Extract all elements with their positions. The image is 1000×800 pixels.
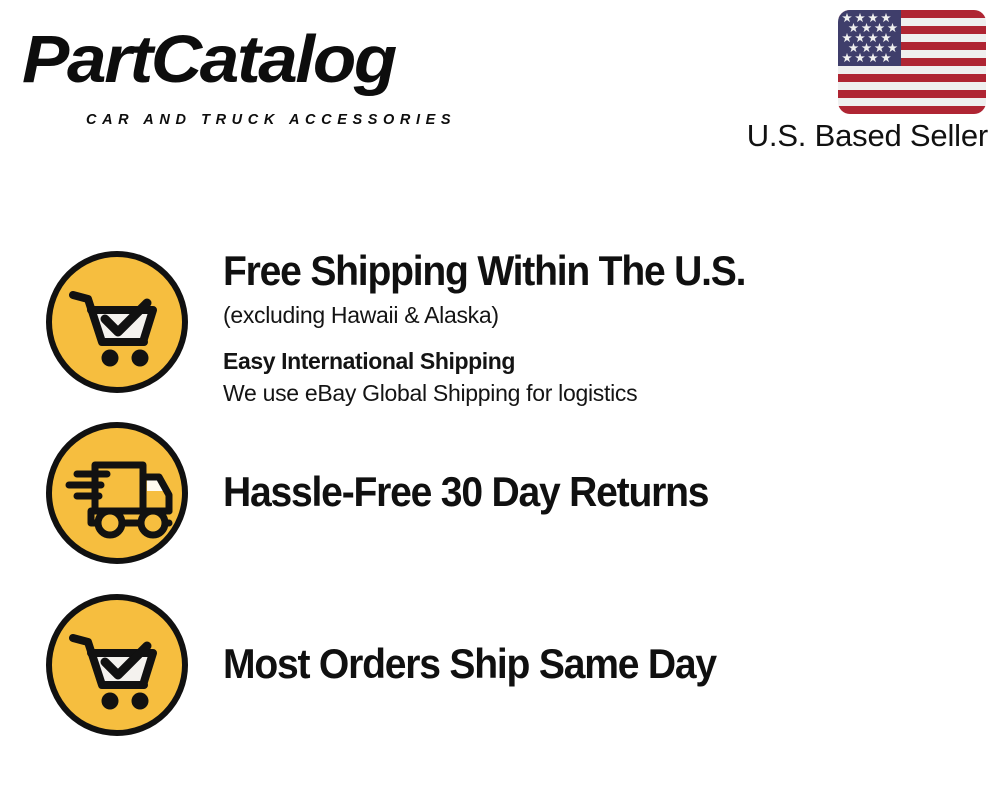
shopping-cart-check-icon xyxy=(43,591,191,739)
brand-tagline: CAR AND TRUCK ACCESSORIES xyxy=(86,112,456,128)
shipping-info-banner: PartCatalog CAR AND TRUCK ACCESSORIES xyxy=(0,0,1000,800)
feature-title: Most Orders Ship Same Day xyxy=(223,641,911,687)
shopping-cart-check-icon xyxy=(43,248,191,396)
feature-text-block: Most Orders Ship Same Day xyxy=(223,641,963,687)
us-flag-icon xyxy=(838,10,986,114)
brand-logo: PartCatalog CAR AND TRUCK ACCESSORIES xyxy=(22,24,492,114)
feature-subnote: (excluding Hawaii & Alaska) xyxy=(223,300,963,330)
feature-text-block: Hassle-Free 30 Day Returns xyxy=(223,469,963,515)
feature-title: Hassle-Free 30 Day Returns xyxy=(223,469,911,515)
feature-row: Hassle-Free 30 Day Returns xyxy=(0,419,1000,569)
feature-row: Most Orders Ship Same Day xyxy=(0,591,1000,741)
feature-title: Free Shipping Within The U.S. xyxy=(223,248,911,294)
feature-subdetail: We use eBay Global Shipping for logistic… xyxy=(223,378,963,408)
feature-row: Free Shipping Within The U.S. (excluding… xyxy=(0,248,1000,398)
us-based-seller-label: U.S. Based Seller xyxy=(747,118,988,154)
feature-text-block: Free Shipping Within The U.S. (excluding… xyxy=(223,248,963,408)
brand-wordmark: PartCatalog xyxy=(22,24,395,96)
feature-subheading: Easy International Shipping xyxy=(223,346,963,376)
fast-delivery-truck-icon xyxy=(43,419,191,567)
